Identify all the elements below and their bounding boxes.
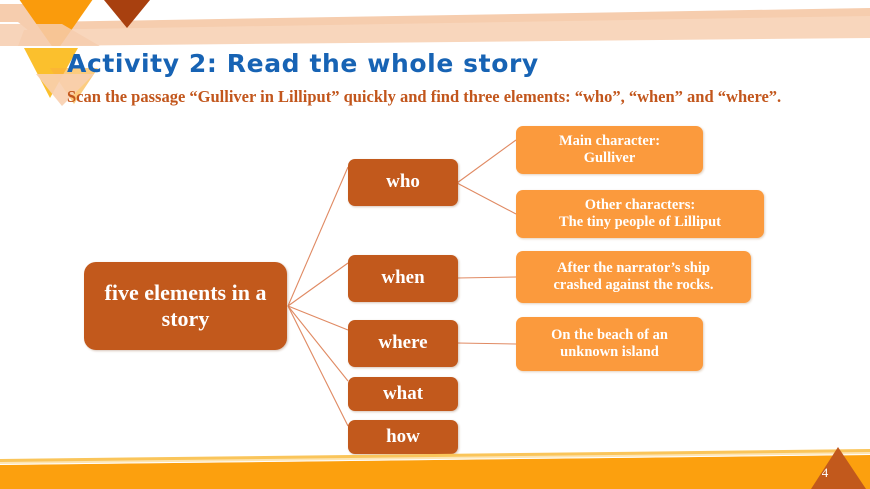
connector-root-when [288, 263, 348, 306]
detail-who-main-character[interactable]: Main character: Gulliver [516, 126, 703, 174]
node-where[interactable]: where [348, 320, 458, 367]
detail-line-2: unknown island [560, 344, 659, 361]
slide-canvas: Activity 2: Read the whole story Scan th… [0, 0, 870, 489]
connector-root-where [288, 306, 348, 330]
connector-who-other [457, 183, 516, 214]
node-when[interactable]: when [348, 255, 458, 302]
detail-line-1: Other characters: [585, 197, 695, 214]
connector-who-main [457, 140, 516, 183]
detail-when-answer[interactable]: After the narrator’s ship crashed agains… [516, 251, 751, 303]
node-what[interactable]: what [348, 377, 458, 411]
page-number: 4 [808, 465, 842, 481]
detail-line-1: After the narrator’s ship [557, 260, 710, 277]
detail-line-2: Gulliver [584, 150, 636, 167]
five-elements-diagram: five elements in a story who when where … [0, 0, 870, 489]
connector-root-who [288, 167, 348, 306]
detail-where-answer[interactable]: On the beach of an unknown island [516, 317, 703, 371]
connector-lines [0, 0, 870, 489]
detail-line-1: Main character: [559, 133, 660, 150]
detail-line-2: The tiny people of Lilliput [559, 214, 721, 231]
connector-when-ans [457, 277, 516, 278]
detail-line-1: On the beach of an [551, 327, 668, 344]
detail-line-2: crashed against the rocks. [553, 277, 713, 294]
node-root[interactable]: five elements in a story [84, 262, 287, 350]
detail-who-other-characters[interactable]: Other characters: The tiny people of Lil… [516, 190, 764, 238]
node-who[interactable]: who [348, 159, 458, 206]
node-how[interactable]: how [348, 420, 458, 454]
connector-where-ans [457, 343, 516, 344]
connector-root-what [288, 306, 348, 381]
connector-root-how [288, 306, 348, 426]
